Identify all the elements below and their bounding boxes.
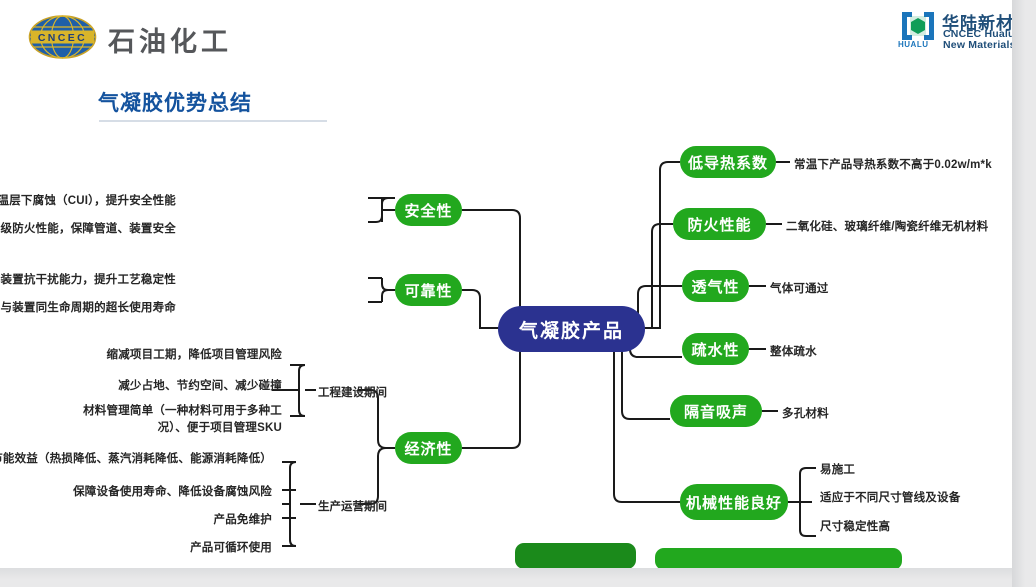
branch-node-reliability[interactable]: 可靠性 — [395, 274, 462, 306]
mindmap-center-node[interactable]: 气凝胶产品 — [498, 306, 645, 352]
leaf-breathable-1: 气体可通过 — [770, 280, 829, 296]
mindmap-canvas: 气凝胶产品 安全性 可靠性 经济性 防御保温层下腐蚀（CUI），提升安全性能 A… — [0, 0, 1012, 568]
page-gutter-bottom — [0, 568, 1012, 587]
leaf-hydrophobic-1: 整体疏水 — [770, 343, 817, 359]
leaf-operation-1: 节能效益（热损降低、蒸汽消耗降低、能源消耗降低） — [0, 450, 272, 466]
page-gutter-right — [1012, 0, 1036, 587]
branch-node-mechanical[interactable]: 机械性能良好 — [680, 484, 788, 520]
branch-node-soundproof[interactable]: 隔音吸声 — [670, 395, 762, 427]
leaf-construction-2: 减少占地、节约空间、减少碰撞 — [118, 377, 282, 393]
leaf-soundproof-1: 多孔材料 — [782, 405, 829, 421]
branch-node-breathable[interactable]: 透气性 — [682, 270, 749, 302]
leaf-mechanical-2: 适应于不同尺寸管线及设备 — [820, 489, 960, 505]
branch-node-hydrophobic[interactable]: 疏水性 — [682, 333, 749, 365]
bottom-shape-right — [655, 548, 902, 568]
bottom-shape-left — [515, 543, 636, 568]
branch-node-low-conductivity[interactable]: 低导热系数 — [680, 146, 776, 178]
leaf-safety-2: A级防火性能，保障管道、装置安全 — [0, 220, 176, 236]
leaf-operation-4: 产品可循环使用 — [190, 539, 272, 555]
leaf-construction-3: 材料管理简单（一种材料可用于多种工况）、便于项目管理SKU — [67, 403, 282, 437]
leaf-mechanical-1: 易施工 — [820, 461, 855, 477]
leaf-fireproof-1: 二氧化硅、玻璃纤维/陶瓷纤维无机材料 — [786, 218, 988, 234]
group-label-operation: 生产运营期间 — [318, 498, 387, 514]
leaf-reliability-2: 与装置同生命周期的超长使用寿命 — [1, 299, 177, 315]
leaf-mechanical-3: 尺寸稳定性高 — [820, 518, 890, 534]
leaf-safety-1: 防御保温层下腐蚀（CUI），提升安全性能 — [0, 192, 176, 208]
leaf-reliability-1: 提升装置抗干扰能力，提升工艺稳定性 — [0, 271, 176, 287]
leaf-operation-3: 产品免维护 — [214, 511, 273, 527]
leaf-construction-1: 缩减项目工期，降低项目管理风险 — [107, 346, 283, 362]
branch-node-economy[interactable]: 经济性 — [395, 432, 462, 464]
leaf-low-conductivity-1: 常温下产品导热系数不高于0.02w/m*k — [794, 156, 992, 172]
group-label-construction: 工程建设期间 — [318, 384, 387, 400]
leaf-operation-2: 保障设备使用寿命、降低设备腐蚀风险 — [73, 483, 272, 499]
slide-page: CNCEC 石油化工 HUALU 华陆新材 CNCEC Hualu New Ma… — [0, 0, 1012, 568]
branch-node-fireproof[interactable]: 防火性能 — [673, 208, 766, 240]
branch-node-safety[interactable]: 安全性 — [395, 194, 462, 226]
